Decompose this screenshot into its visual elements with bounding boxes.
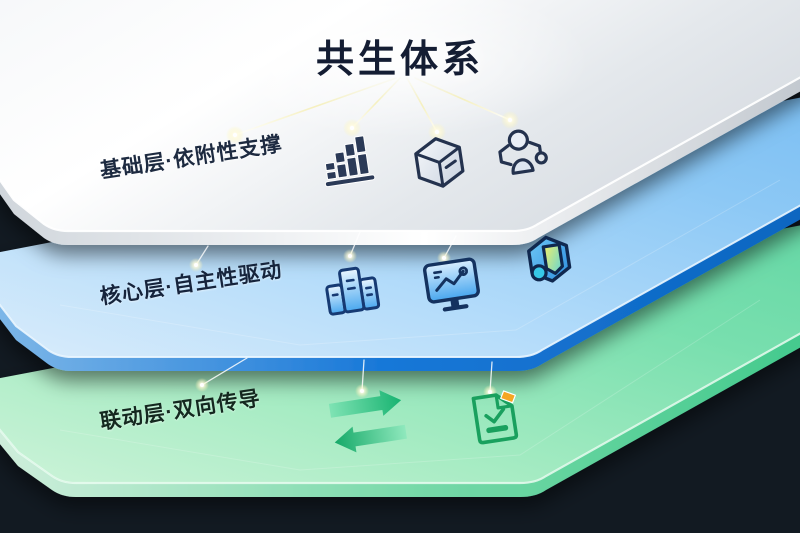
layered-planes [0,0,800,533]
diagram-stage: 共生体系 基础层·依附性支撑 核心层·自主性驱动 联动层·双向传导 [0,0,800,533]
